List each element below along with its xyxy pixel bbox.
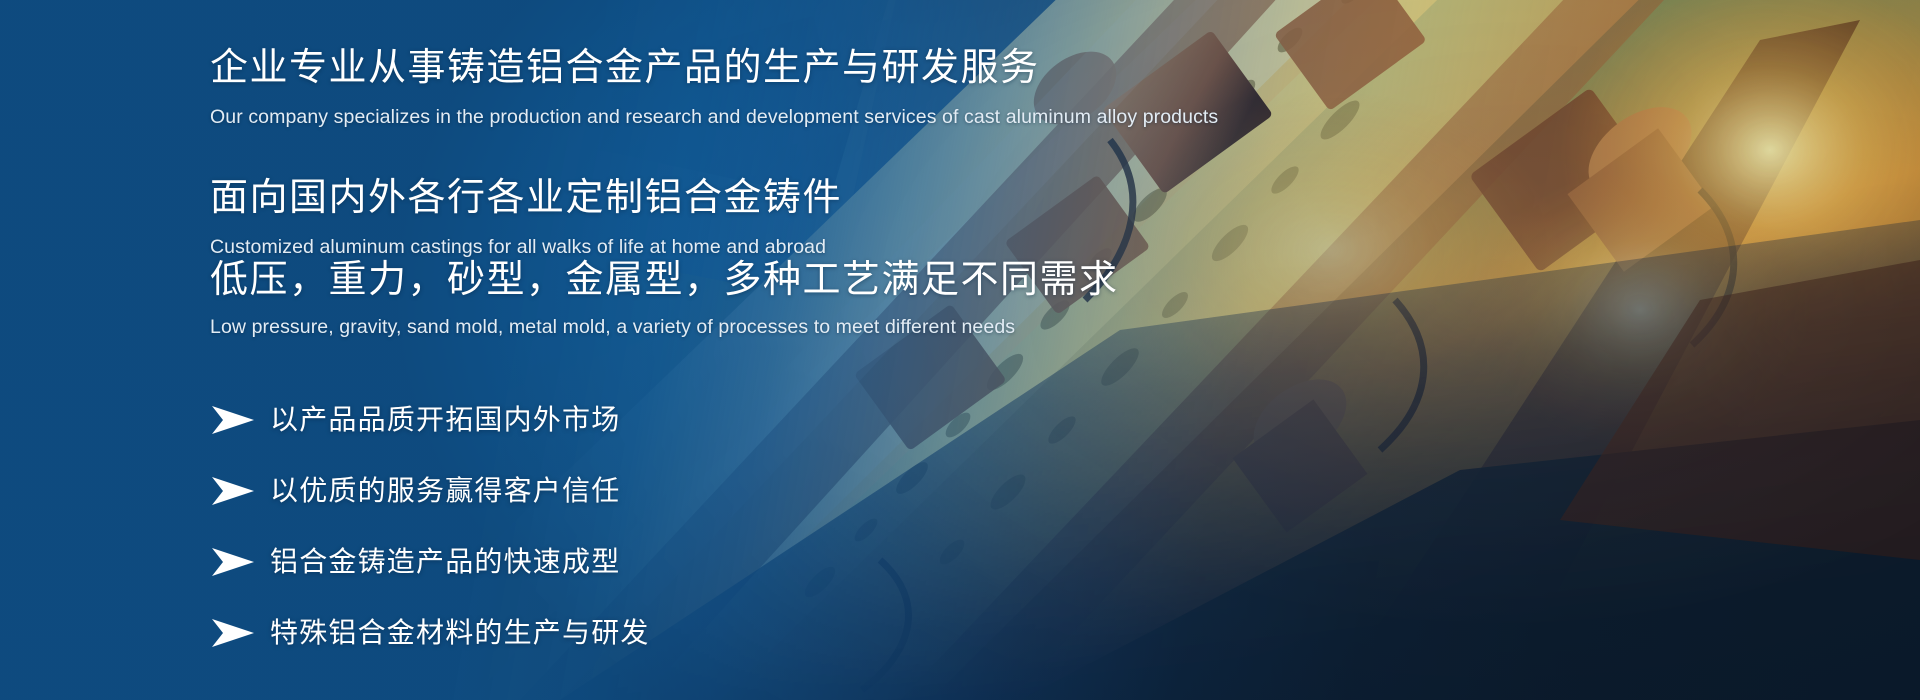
headline-block-1: 企业专业从事铸造铝合金产品的生产与研发服务 Our company specia…	[210, 48, 1218, 129]
banner-content: 企业专业从事铸造铝合金产品的生产与研发服务 Our company specia…	[0, 0, 1200, 700]
list-item-label: 以产品品质开拓国内外市场	[270, 406, 620, 434]
headline-2-en: Customized aluminum castings for all wal…	[210, 236, 842, 259]
list-item-label: 以优质的服务赢得客户信任	[270, 477, 620, 505]
headline-3-en: Low pressure, gravity, sand mold, metal …	[210, 316, 1119, 339]
list-item[interactable]: 铝合金铸造产品的快速成型	[210, 534, 650, 589]
headline-3-cn: 低压，重力，砂型，金属型，多种工艺满足不同需求	[210, 260, 1119, 302]
feature-list: 以产品品质开拓国内外市场 以优质的服务赢得客户信任 铝合金铸造产品的快速成型	[210, 392, 650, 676]
list-item[interactable]: 特殊铝合金材料的生产与研发	[210, 605, 650, 660]
list-item-label: 铝合金铸造产品的快速成型	[270, 548, 620, 576]
list-item[interactable]: 以产品品质开拓国内外市场	[210, 392, 650, 447]
headline-1-en: Our company specializes in the productio…	[210, 106, 1218, 129]
list-item[interactable]: 以优质的服务赢得客户信任	[210, 463, 650, 518]
list-item-label: 特殊铝合金材料的生产与研发	[270, 619, 650, 647]
arrow-right-icon	[210, 547, 256, 577]
headline-block-3: 低压，重力，砂型，金属型，多种工艺满足不同需求 Low pressure, gr…	[210, 260, 1119, 339]
hero-banner: 企业专业从事铸造铝合金产品的生产与研发服务 Our company specia…	[0, 0, 1920, 700]
arrow-right-icon	[210, 618, 256, 648]
arrow-right-icon	[210, 405, 256, 435]
arrow-right-icon	[210, 476, 256, 506]
headline-block-2: 面向国内外各行各业定制铝合金铸件 Customized aluminum cas…	[210, 178, 842, 259]
headline-2-cn: 面向国内外各行各业定制铝合金铸件	[210, 178, 842, 220]
headline-1-cn: 企业专业从事铸造铝合金产品的生产与研发服务	[210, 48, 1218, 90]
